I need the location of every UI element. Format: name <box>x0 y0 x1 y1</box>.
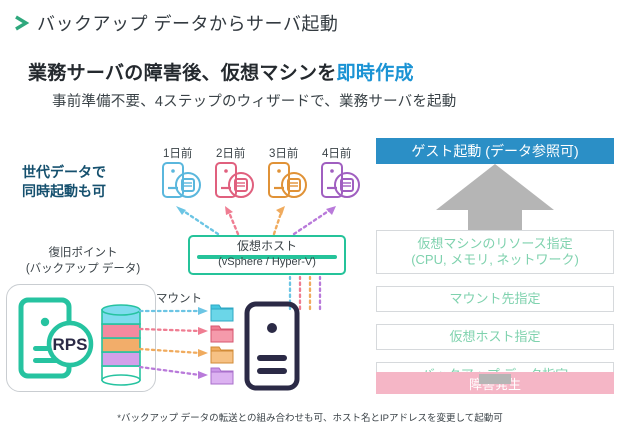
generation-label-day4: 4日前 <box>322 145 351 161</box>
headline: 業務サーバの障害後、仮想マシンを即時作成 <box>28 58 414 85</box>
boot-arrows-group <box>170 204 360 238</box>
rps-badge-text: RPS <box>53 335 88 354</box>
header-title-text: バックアップ データからサーバ起動 <box>37 10 338 36</box>
arrowhead-day2 <box>225 206 233 215</box>
virtual-host-line2: (vSphere / Hyper-V) <box>190 256 344 270</box>
headline-plain: 業務サーバの障害後、仮想マシンを <box>28 63 337 84</box>
arrowhead-mount2 <box>198 327 208 335</box>
generation-server-icon-day1 <box>163 163 200 197</box>
step-connector-5 <box>479 374 511 384</box>
step-box-virtual-host-line1: 仮想ホスト指定 <box>449 329 540 345</box>
arrowhead-day4 <box>326 206 336 215</box>
arrowhead-day1 <box>176 206 186 215</box>
mounted-folders-group <box>210 301 236 387</box>
headline-accent: 即時作成 <box>337 63 414 84</box>
wizard-step-stack: ゲスト起動 (データ参照可) 仮想マシンのリソース指定 (CPU, メモリ, ネ… <box>376 138 614 388</box>
generation-note-line1: 世代データで <box>22 163 106 182</box>
header-title-row: バックアップ データからサーバ起動 <box>14 10 338 36</box>
disk-layer-orange <box>102 338 140 352</box>
chevron-right-icon <box>14 14 30 32</box>
upward-arrow-icon <box>436 164 554 230</box>
generation-server-icon-day4 <box>322 163 359 197</box>
arrowhead-day3 <box>276 206 285 215</box>
folder-icon-day4 <box>211 368 233 384</box>
generation-server-icon-day3 <box>269 163 306 197</box>
step-box-resource-line1: 仮想マシンのリソース指定 <box>417 236 572 252</box>
step-box-mount-target-line1: マウント先指定 <box>449 291 540 307</box>
step-box-resource[interactable]: 仮想マシンのリソース指定 (CPU, メモリ, ネットワーク) <box>376 230 614 274</box>
recovery-point-label-line2: (バックアップ データ) <box>8 262 158 278</box>
mount-target-server-icon <box>243 300 301 392</box>
step-box-mount-target[interactable]: マウント先指定 <box>376 286 614 312</box>
disk-to-folder-connectors <box>140 305 212 381</box>
recovery-point-label: 復旧ポイント (バックアップ データ) <box>8 246 158 277</box>
step-box-resource-line2: (CPU, メモリ, ネットワーク) <box>411 252 579 268</box>
headline-subtitle: 事前準備不要、4ステップのウィザードで、業務サーバを起動 <box>52 90 456 111</box>
arrowhead-mount4 <box>198 371 208 379</box>
step-box-virtual-host[interactable]: 仮想ホスト指定 <box>376 324 614 350</box>
arrowhead-mount1 <box>198 307 208 315</box>
disk-layer-pink <box>102 324 140 338</box>
step-guest-boot[interactable]: ゲスト起動 (データ参照可) <box>376 138 614 164</box>
folder-icon-day1 <box>211 305 233 321</box>
generation-server-icon-day2 <box>216 163 253 197</box>
disk-layer-purple <box>102 352 140 366</box>
footnote: *バックアップ データの転送との組み合わせも可、ホスト名とIPアドレスを変更して… <box>0 410 620 424</box>
generation-icons-row <box>160 160 360 208</box>
generation-label-day1: 1日前 <box>163 145 192 161</box>
virtual-host-line1: 仮想ホスト <box>190 239 344 254</box>
generation-note: 世代データで 同時起動も可 <box>22 163 106 201</box>
rps-server-icon: RPS <box>18 296 100 380</box>
generation-note-line2: 同時起動も可 <box>22 182 106 201</box>
generation-label-day2: 2日前 <box>216 145 245 161</box>
mount-label: マウント <box>156 290 202 306</box>
backup-disk-stack <box>98 304 144 384</box>
folder-icon-day3 <box>211 347 233 363</box>
generation-label-day3: 3日前 <box>269 145 298 161</box>
folder-icon-day2 <box>211 326 233 342</box>
arrowhead-mount3 <box>198 349 208 357</box>
recovery-point-label-line1: 復旧ポイント <box>8 246 158 262</box>
virtual-host-box[interactable]: 仮想ホスト (vSphere / Hyper-V) <box>188 235 346 275</box>
